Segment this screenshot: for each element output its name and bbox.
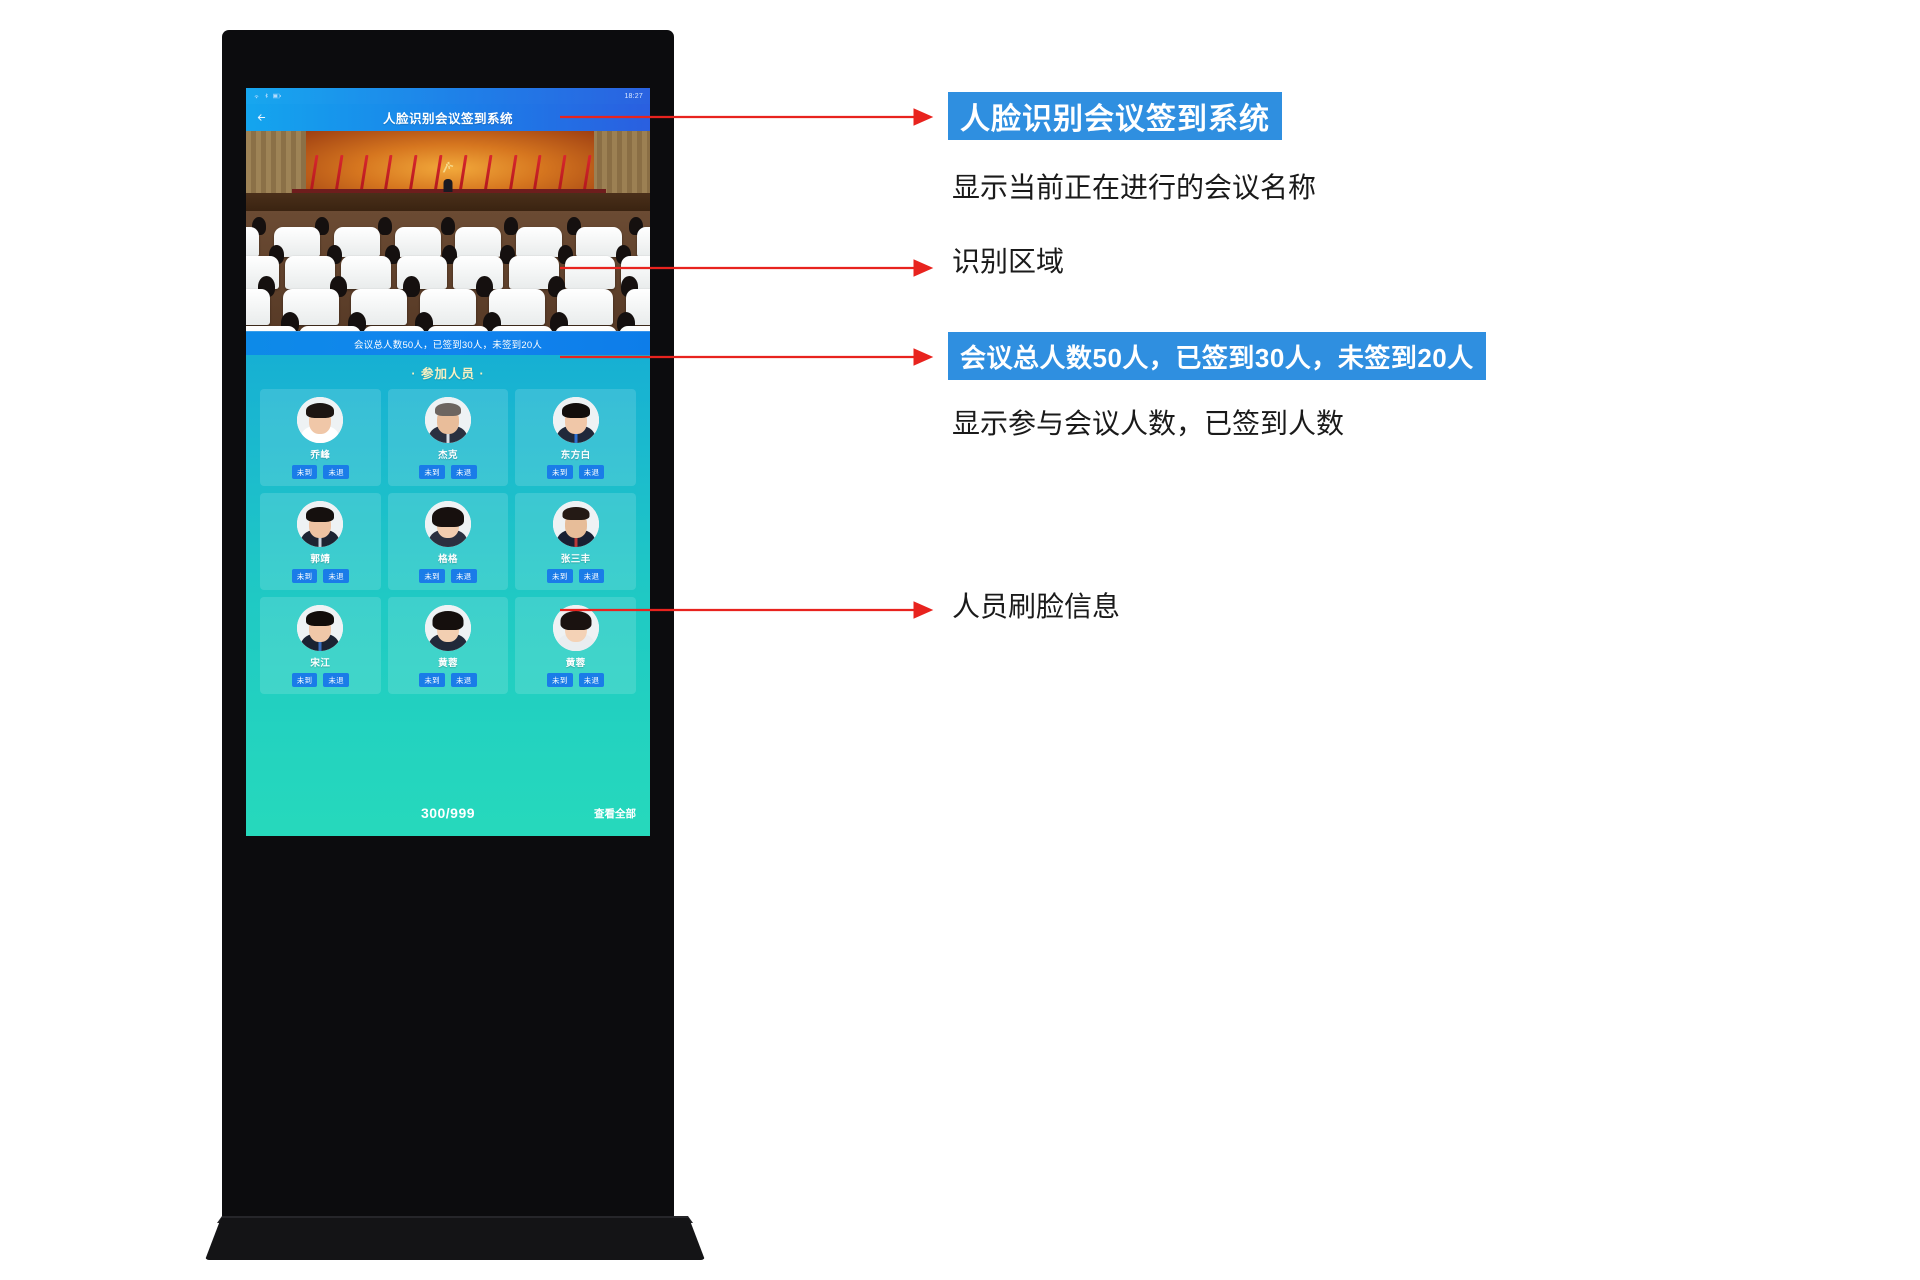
participants-grid: 乔峰未到未退 杰克未到未退 东方白未到未退 郭靖未到未退 格格未到未退 张三丰未… [246, 389, 650, 694]
avatar [297, 501, 343, 547]
participant-card[interactable]: 郭靖未到未退 [260, 493, 381, 590]
meeting-stats-text: 会议总人数50人，已签到30人，未签到20人 [354, 337, 542, 351]
participants-section-title: · 参加人员 · [246, 355, 650, 389]
participant-badges: 未到未退 [547, 569, 604, 583]
party-emblem-icon [440, 159, 456, 175]
status-bar-icons [253, 93, 281, 100]
participant-badges: 未到未退 [292, 465, 349, 479]
participant-badges: 未到未退 [547, 465, 604, 479]
avatar [297, 605, 343, 651]
audience-seats-layer [246, 211, 650, 331]
badge-not-arrived[interactable]: 未到 [292, 465, 318, 479]
recognition-area [246, 131, 650, 331]
avatar [297, 397, 343, 443]
participant-card[interactable]: 格格未到未退 [388, 493, 509, 590]
participant-name: 黄蓉 [566, 655, 586, 669]
participant-badges: 未到未退 [419, 569, 476, 583]
kiosk-base [205, 1218, 705, 1260]
participant-card[interactable]: 宋江未到未退 [260, 597, 381, 694]
status-bar-time: 18:27 [624, 93, 643, 100]
participant-name: 东方白 [561, 447, 591, 461]
badge-not-left[interactable]: 未退 [451, 673, 477, 687]
participant-badges: 未到未退 [419, 673, 476, 687]
participant-badges: 未到未退 [292, 673, 349, 687]
avatar [425, 397, 471, 443]
annotation-recognition-area: 识别区域 [952, 240, 1064, 280]
badge-not-arrived[interactable]: 未到 [292, 569, 318, 583]
page-count: 300/999 [246, 805, 650, 821]
screenshot-canvas: 18:27 人脸识别会议签到系统 [0, 0, 1920, 1280]
participant-name: 郭靖 [310, 551, 330, 565]
status-bar: 18:27 [246, 88, 650, 104]
audience-seat [619, 326, 650, 331]
participant-badges: 未到未退 [419, 465, 476, 479]
participant-card[interactable]: 杰克未到未退 [388, 389, 509, 486]
badge-not-left[interactable]: 未退 [579, 465, 605, 479]
annotation-stats-highlight: 会议总人数50人，已签到30人，未签到20人 [948, 332, 1486, 380]
seat-row [246, 326, 650, 331]
avatar [425, 501, 471, 547]
badge-not-arrived[interactable]: 未到 [419, 569, 445, 583]
badge-not-left[interactable]: 未退 [579, 569, 605, 583]
avatar [425, 605, 471, 651]
audience-seat [299, 326, 361, 331]
view-all-button[interactable]: 查看全部 [594, 806, 636, 821]
annotation-title-highlight: 人脸识别会议签到系统 [948, 92, 1282, 140]
badge-not-arrived[interactable]: 未到 [547, 465, 573, 479]
participant-name: 格格 [438, 551, 458, 565]
badge-not-left[interactable]: 未退 [323, 465, 349, 479]
audience-seat [246, 326, 297, 331]
audience-seat [555, 326, 617, 331]
badge-not-left[interactable]: 未退 [323, 673, 349, 687]
participant-card[interactable]: 黄蓉未到未退 [388, 597, 509, 694]
badge-not-arrived[interactable]: 未到 [292, 673, 318, 687]
conference-stage [246, 131, 650, 199]
page-title: 人脸识别会议签到系统 [246, 104, 650, 131]
audience-seat [363, 326, 425, 331]
audience-seat [427, 326, 489, 331]
audience-seat [491, 326, 553, 331]
participant-name: 乔峰 [310, 447, 330, 461]
badge-not-left[interactable]: 未退 [579, 673, 605, 687]
participant-card[interactable]: 东方白未到未退 [515, 389, 636, 486]
app-bar: 人脸识别会议签到系统 [246, 104, 650, 131]
battery-icon [273, 93, 281, 99]
participant-name: 杰克 [438, 447, 458, 461]
list-footer: 300/999 查看全部 [246, 790, 650, 836]
participant-card[interactable]: 黄蓉未到未退 [515, 597, 636, 694]
badge-not-arrived[interactable]: 未到 [419, 673, 445, 687]
annotation-stats-description: 显示参与会议人数，已签到人数 [952, 402, 1344, 442]
badge-not-arrived[interactable]: 未到 [419, 465, 445, 479]
participant-badges: 未到未退 [547, 673, 604, 687]
badge-not-arrived[interactable]: 未到 [547, 673, 573, 687]
participant-name: 张三丰 [561, 551, 591, 565]
avatar [553, 501, 599, 547]
participant-badges: 未到未退 [292, 569, 349, 583]
bluetooth-icon [264, 93, 269, 100]
badge-not-arrived[interactable]: 未到 [547, 569, 573, 583]
participant-card[interactable]: 乔峰未到未退 [260, 389, 381, 486]
kiosk-screen: 18:27 人脸识别会议签到系统 [246, 88, 650, 836]
annotation-face-info: 人员刷脸信息 [952, 585, 1120, 625]
participant-name: 宋江 [310, 655, 330, 669]
badge-not-left[interactable]: 未退 [451, 569, 477, 583]
avatar [553, 397, 599, 443]
badge-not-left[interactable]: 未退 [323, 569, 349, 583]
annotation-title-description: 显示当前正在进行的会议名称 [952, 166, 1316, 206]
participant-name: 黄蓉 [438, 655, 458, 669]
avatar [553, 605, 599, 651]
badge-not-left[interactable]: 未退 [451, 465, 477, 479]
participant-card[interactable]: 张三丰未到未退 [515, 493, 636, 590]
speaker-silhouette [444, 179, 453, 192]
meeting-stats-bar: 会议总人数50人，已签到30人，未签到20人 [246, 331, 650, 355]
wifi-icon [253, 93, 260, 100]
